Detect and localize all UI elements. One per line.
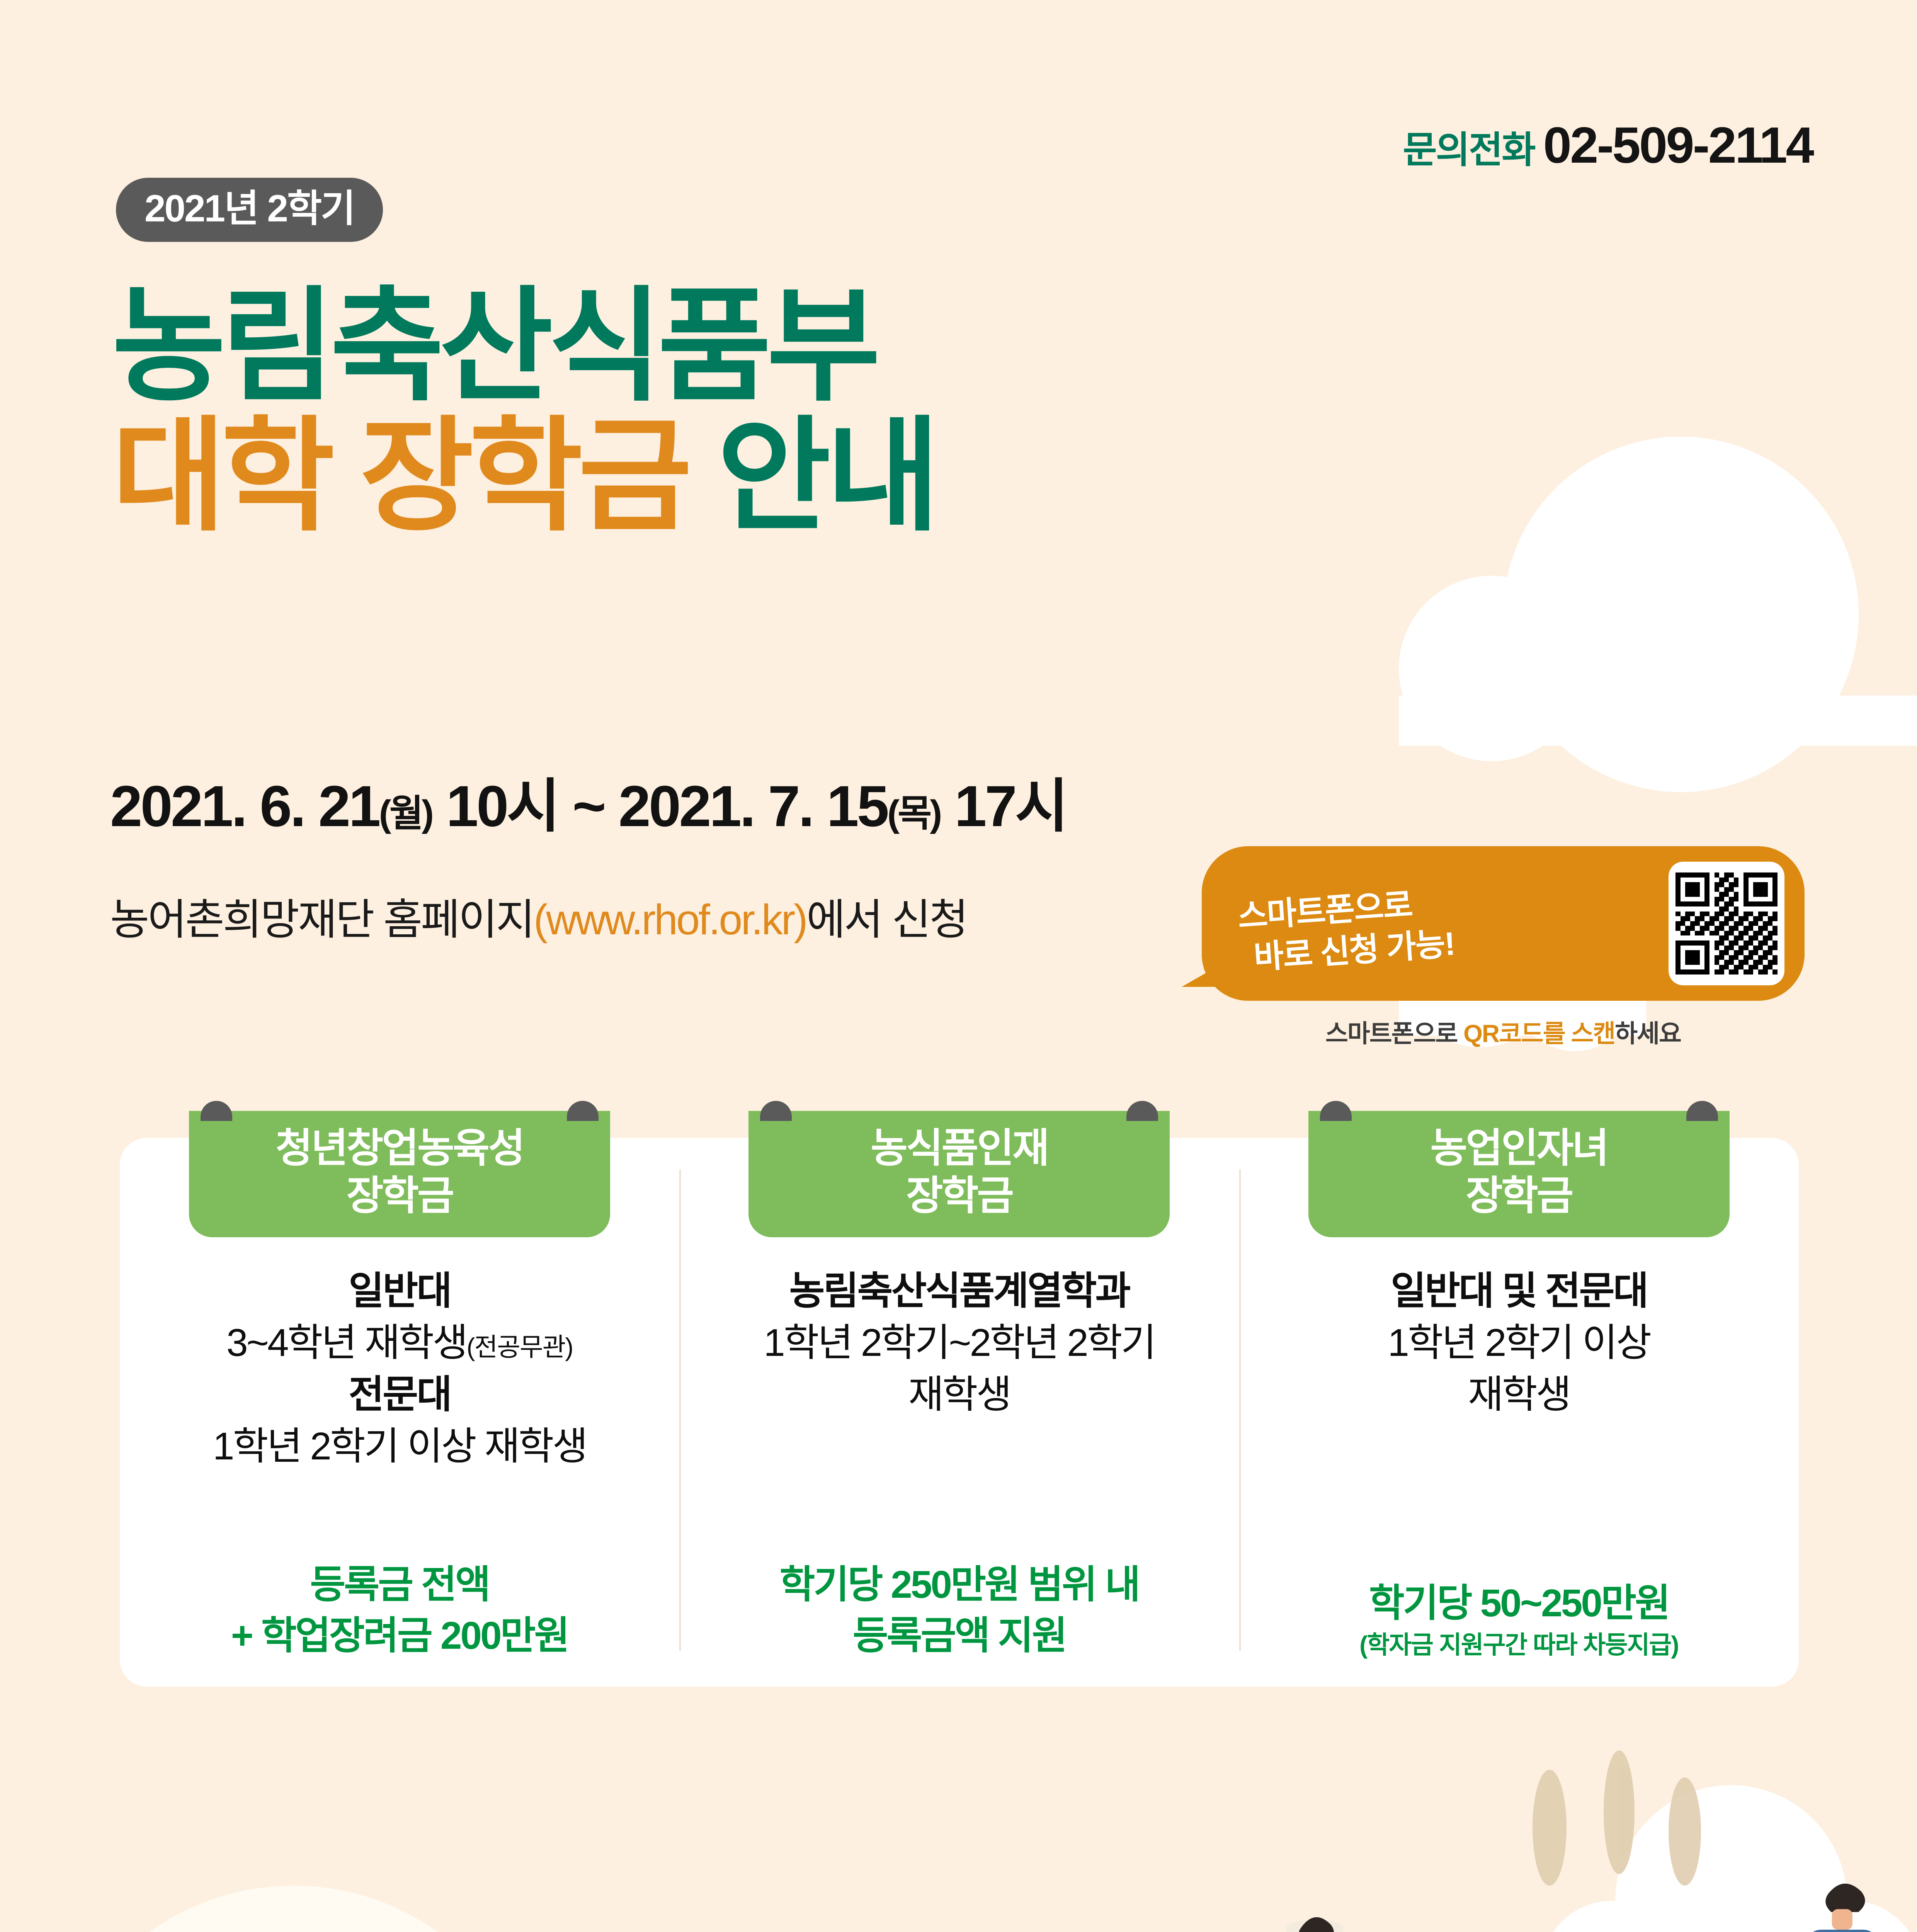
eligibility-block: 농림축산식품계열학과1학년 2학기~2학년 2학기재학생 — [764, 1265, 1155, 1420]
scholarship-title-line1: 농식품인재 — [871, 1126, 1048, 1171]
apply-url[interactable]: (www.rhof.or.kr) — [534, 896, 806, 944]
scholarship-column: 청년창업농육성장학금일반대3~4학년 재학생(전공무관)전문대1학년 2학기 이… — [120, 1138, 679, 1687]
scholarship-amount: 학기당 250만원 범위 내등록금액 지원 — [764, 1559, 1155, 1661]
eligibility-note: (전공무관) — [466, 1333, 573, 1361]
contact-phone: 문의전화 02-509-2114 — [1403, 116, 1813, 174]
eligibility-block: 일반대 및 전문대1학년 2학기 이상재학생 — [1359, 1265, 1678, 1420]
card-notch-left-icon — [201, 1101, 232, 1121]
apply-suffix: 에서 신청 — [806, 896, 967, 944]
period-start-day: (월) — [379, 793, 432, 834]
scholarship-card-header: 농식품인재장학금 — [748, 1111, 1170, 1237]
amount-note: (학자금 지원구간 따라 차등지급) — [1359, 1629, 1678, 1661]
scholarship-card-body: 농림축산식품계열학과1학년 2학기~2학년 2학기재학생학기당 250만원 범위… — [744, 1237, 1174, 1687]
scholarship-card-body: 일반대 및 전문대1학년 2학기 이상재학생학기당 50~250만원(학자금 지… — [1340, 1237, 1698, 1687]
eligibility-line: 전문대 — [213, 1369, 587, 1420]
scholarship-title-line1: 농업인자녀 — [1431, 1126, 1607, 1171]
amount-line1: 학기당 50~250만원 — [1369, 1582, 1669, 1625]
card-notch-right-icon — [1686, 1101, 1718, 1121]
eligibility-block: 일반대3~4학년 재학생(전공무관)전문대1학년 2학기 이상 재학생 — [213, 1265, 587, 1472]
scholarship-amount: 등록금 전액+ 학업장려금 200만원 — [213, 1559, 587, 1661]
period-end-date: 2021. 7. 15 — [618, 774, 887, 838]
scholarship-title-line1: 청년창업농육성 — [276, 1126, 524, 1171]
scholarship-title-line2: 장학금 — [1466, 1173, 1572, 1218]
amount-line2: 등록금액 지원 — [853, 1614, 1066, 1657]
eligibility-line: 재학생 — [1359, 1369, 1678, 1420]
eligibility-line: 3~4학년 재학생(전공무관) — [213, 1317, 587, 1369]
eligibility-line: 1학년 2학기 이상 재학생 — [213, 1420, 587, 1472]
card-notch-left-icon — [1320, 1101, 1352, 1121]
poster-root: 문의전화 02-509-2114 2021년 2학기 농림축산식품부 대학 장학… — [0, 0, 1917, 1932]
qr-bubble-text: 스마트폰으로 바로 신청 가능! — [1237, 868, 1653, 980]
eligibility-line: 1학년 2학기 이상 — [1359, 1317, 1678, 1369]
scholarship-column: 농식품인재장학금농림축산식품계열학과1학년 2학기~2학년 2학기재학생학기당 … — [679, 1138, 1239, 1687]
scholarship-title-line2: 장학금 — [906, 1173, 1012, 1218]
scholarship-column: 농업인자녀장학금일반대 및 전문대1학년 2학기 이상재학생학기당 50~250… — [1239, 1138, 1799, 1687]
scholarship-panel: 청년창업농육성장학금일반대3~4학년 재학생(전공무관)전문대1학년 2학기 이… — [120, 1138, 1799, 1687]
page-title: 농림축산식품부 대학 장학금 안내 — [112, 286, 936, 537]
card-notch-right-icon — [1126, 1101, 1158, 1121]
application-period: 2021. 6. 21(월) 10시 ~ 2021. 7. 15(목) 17시 — [110, 759, 1067, 843]
eligibility-line: 1학년 2학기~2학년 2학기 — [764, 1317, 1155, 1369]
scholarship-card-body: 일반대3~4학년 재학생(전공무관)전문대1학년 2학기 이상 재학생등록금 전… — [194, 1237, 606, 1687]
qr-caption-highlight: QR코드를 스캔 — [1463, 1020, 1615, 1048]
apply-prefix: 농어촌희망재단 홈페이지 — [110, 896, 534, 944]
farm-illustration — [0, 1700, 1917, 1932]
scholarship-amount: 학기당 50~250만원(학자금 지원구간 따라 차등지급) — [1359, 1578, 1678, 1661]
amount-line1: 등록금 전액 — [310, 1563, 489, 1606]
eligibility-line: 재학생 — [764, 1369, 1155, 1420]
eligibility-line: 일반대 및 전문대 — [1359, 1265, 1678, 1317]
title-line-guide: 안내 — [717, 407, 936, 545]
card-notch-left-icon — [760, 1101, 792, 1121]
qr-caption-post: 하세요 — [1615, 1020, 1681, 1048]
qr-speech-bubble: 스마트폰으로 바로 신청 가능! — [1202, 846, 1805, 1001]
eligibility-line: 농림축산식품계열학과 — [764, 1265, 1155, 1317]
period-end-time: 17시 — [954, 774, 1067, 838]
qr-code-matrix — [1675, 872, 1778, 975]
phone-label: 문의전화 — [1403, 120, 1534, 173]
qr-caption: 스마트폰으로 QR코드를 스캔하세요 — [1202, 1014, 1805, 1049]
semester-badge: 2021년 2학기 — [116, 178, 383, 242]
amount-line1: 학기당 250만원 범위 내 — [779, 1563, 1139, 1606]
period-separator: ~ — [572, 774, 604, 838]
scholarship-title-line2: 장학금 — [347, 1173, 453, 1218]
title-line-ministry: 농림축산식품부 — [112, 286, 936, 407]
scholarship-card-header: 청년창업농육성장학금 — [189, 1111, 610, 1237]
period-end-day: (목) — [887, 793, 940, 834]
scholarship-columns: 청년창업농육성장학금일반대3~4학년 재학생(전공무관)전문대1학년 2학기 이… — [120, 1138, 1799, 1687]
apply-instruction: 농어촌희망재단 홈페이지(www.rhof.or.kr)에서 신청 — [110, 885, 967, 947]
period-start-date: 2021. 6. 21 — [110, 774, 379, 838]
period-start-time: 10시 — [446, 774, 558, 838]
card-notch-right-icon — [567, 1101, 599, 1121]
amount-line2: + 학업장려금 200만원 — [231, 1614, 568, 1657]
phone-number: 02-509-2114 — [1543, 116, 1813, 174]
scholarship-card-header: 농업인자녀장학금 — [1308, 1111, 1730, 1237]
eligibility-line: 일반대 — [213, 1265, 587, 1317]
qr-caption-pre: 스마트폰으로 — [1325, 1020, 1463, 1048]
title-line-scholarship: 대학 장학금 — [112, 407, 687, 545]
qr-code[interactable] — [1669, 862, 1784, 985]
qr-section: 스마트폰으로 바로 신청 가능! 스마트폰으로 QR코드를 스캔하세요 — [1202, 846, 1805, 1049]
